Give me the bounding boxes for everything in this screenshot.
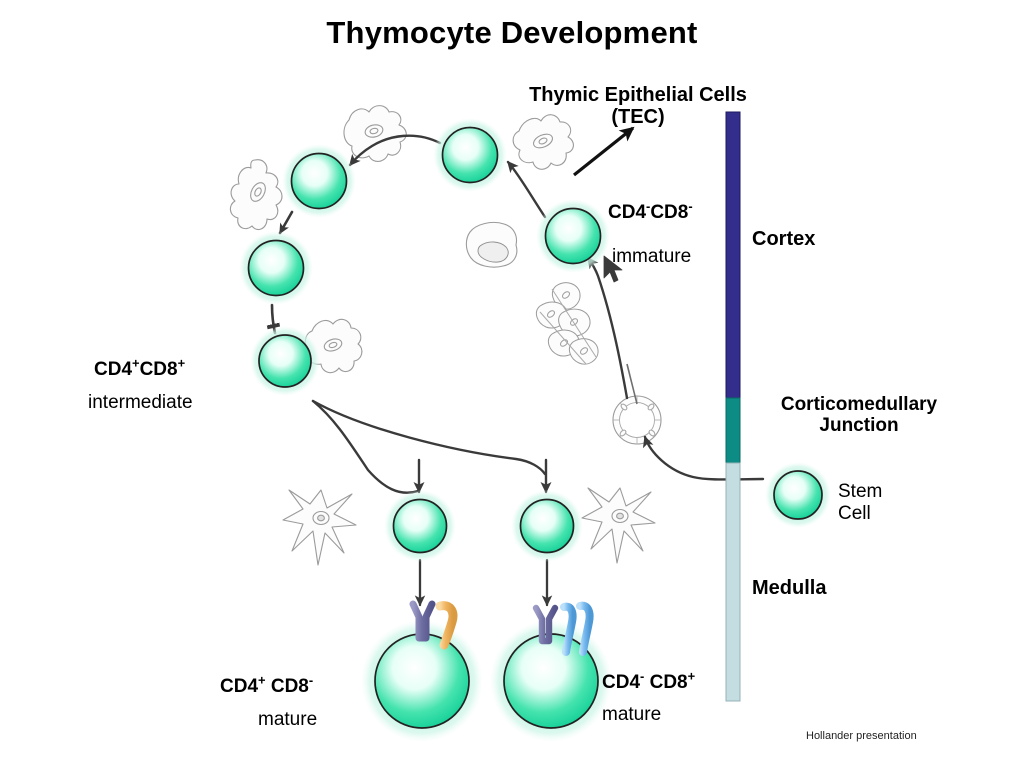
cmj-line1: Corticomedullary — [746, 394, 972, 415]
thymocyte-sp-precursor-right — [511, 490, 583, 562]
slide-canvas: Thymocyte Development Thymic Epithelial … — [0, 0, 1024, 768]
footer-credit: Hollander presentation — [806, 730, 917, 742]
tec-cluster-icon — [536, 283, 598, 364]
thymocyte-transit-top — [433, 118, 507, 192]
arrow-dp-to-cd4sp — [313, 401, 418, 493]
zone-label-medulla: Medulla — [752, 577, 826, 599]
thymocyte-stem-cell — [765, 462, 831, 528]
cmj-line2: Junction — [746, 415, 972, 436]
stem-cell-label: Stem Cell — [838, 481, 882, 526]
thymocyte-dn-immature — [536, 199, 610, 273]
arrow-dn-to-top — [508, 162, 545, 217]
dendritic-left-icon — [283, 490, 356, 565]
arrow-dp-to-cd8sp — [313, 401, 545, 474]
tec-label-line2: (TEC) — [504, 106, 772, 128]
arrow-upperleft-to-midleft — [280, 212, 292, 233]
dendritic-right-icon — [582, 488, 655, 563]
dn-stage-sublabel: immature — [612, 246, 691, 267]
cd4sp-stage-sublabel: mature — [258, 709, 317, 730]
zone-label-cortex: Cortex — [752, 228, 815, 250]
cd4sp-stage-label: CD4+ CD8- — [220, 676, 313, 697]
page-title: Thymocyte Development — [0, 16, 1024, 51]
dn-stage-label: CD4-CD8- — [608, 202, 693, 223]
thymocyte-dp-intermediate — [250, 326, 320, 396]
stem-cell-line2: Cell — [838, 503, 882, 525]
arrow-tec-callout — [574, 128, 633, 175]
thymocyte-sp-precursor-left — [384, 490, 456, 562]
macrophage-icon — [466, 222, 516, 267]
zone-label-corticomedullary-junction: Corticomedullary Junction — [746, 394, 972, 437]
zone-medulla-bar — [726, 463, 740, 701]
zone-cortex-bar — [726, 112, 740, 398]
tec-upper-left-icon — [230, 160, 282, 230]
thymocytes-layer — [239, 118, 831, 742]
arrow-stem-to-vessel — [645, 437, 763, 480]
tec-label: Thymic Epithelial Cells (TEC) — [504, 84, 772, 129]
tec-top-center-icon — [344, 106, 406, 162]
tcr-icon-cd4sp — [413, 604, 432, 638]
stem-cell-line1: Stem — [838, 481, 882, 503]
cd8sp-stage-sublabel: mature — [602, 704, 661, 725]
tec-label-line1: Thymic Epithelial Cells — [504, 84, 772, 106]
thymocyte-transit-upper-left — [282, 144, 356, 218]
thymocyte-transit-mid-left — [239, 231, 313, 305]
zone-junction-bar — [726, 398, 740, 463]
thymus-zone-bar — [726, 112, 740, 701]
arrow-vessel-to-dn — [588, 258, 627, 398]
dp-stage-sublabel: intermediate — [88, 392, 193, 413]
cd8sp-stage-label: CD4- CD8+ — [602, 672, 695, 693]
dp-stage-label: CD4+CD8+ — [94, 359, 185, 380]
